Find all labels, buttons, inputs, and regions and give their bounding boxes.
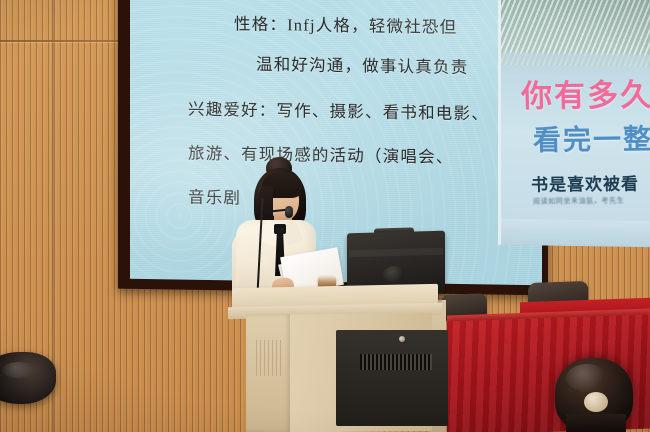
poster-bottom-band bbox=[501, 219, 650, 248]
microphone-head bbox=[285, 206, 293, 218]
hair-scrunchie bbox=[584, 392, 608, 412]
slide-line-5: 音乐剧 bbox=[188, 184, 241, 209]
audience-neck bbox=[566, 414, 626, 432]
poster-panel: 你有多久 看完一整 书是喜欢被看 阅读如同坐禾油氩，考先生 bbox=[498, 0, 650, 247]
podium-vent-grille bbox=[360, 354, 432, 370]
slide-line-4: 旅游、有现场感的活动（演唱会、 bbox=[188, 140, 454, 168]
poster-headline-blue: 看完一整 bbox=[532, 118, 650, 159]
chair-highlight bbox=[2, 362, 36, 378]
poster-subtext: 书是喜欢被看 bbox=[531, 170, 640, 196]
audience-hair-highlight bbox=[566, 364, 608, 392]
slide-line-1: 性格：Infj人格，轻微社恐但 bbox=[234, 10, 457, 38]
poster-caption: 阅读如同坐禾油氩，考先生 bbox=[533, 196, 624, 207]
poster-headline-pink: 你有多久 bbox=[520, 69, 650, 115]
photo-scene: 性格：Infj人格，轻微社恐但 温和好沟通，做事认真负责 兴趣爱好：写作、摄影、… bbox=[0, 0, 650, 432]
slide-line-3: 兴趣爱好：写作、摄影、看书和电影、 bbox=[188, 96, 489, 125]
podium-equipment-panel bbox=[336, 330, 448, 426]
slide-line-2: 温和好沟通，做事认真负责 bbox=[256, 51, 468, 78]
podium-lock-knob bbox=[399, 336, 405, 342]
projector-screen: 性格：Infj人格，轻微社恐但 温和好沟通，做事认真负责 兴趣爱好：写作、摄影、… bbox=[130, 0, 542, 285]
podium-side-vent bbox=[256, 340, 282, 376]
